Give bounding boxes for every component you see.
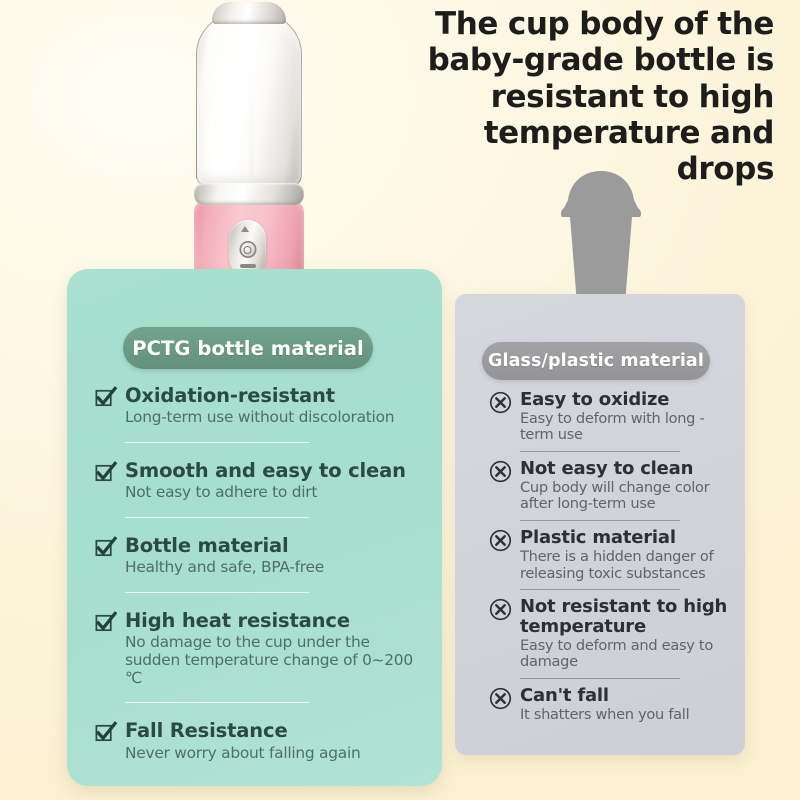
list-item: High heat resistance No damage to the cu… [94, 610, 424, 687]
checkbox-checked-icon [94, 611, 117, 634]
list-item: Easy to oxidize Easy to deform with long… [489, 390, 729, 444]
item-title: Plastic material [520, 528, 729, 548]
item-description: Easy to deform with long -term use [520, 411, 729, 444]
item-title: Bottle material [125, 535, 424, 556]
item-title: Not easy to clean [520, 459, 729, 479]
circle-x-icon [489, 598, 512, 621]
control-panel [229, 220, 266, 276]
circle-x-icon [489, 687, 512, 710]
item-title: Oxidation-resistant [125, 385, 424, 406]
battery-indicator-icon [240, 264, 256, 268]
circle-x-icon [489, 529, 512, 552]
item-description: Not easy to adhere to dirt [125, 484, 424, 502]
checkbox-checked-icon [94, 386, 117, 409]
list-item: Plastic material There is a hidden dange… [489, 528, 729, 582]
divider [125, 702, 309, 703]
cup-gloss-highlight [249, 45, 254, 177]
divider [125, 592, 309, 593]
glass-plastic-material-card: Glass/plastic material Easy to oxidize E… [455, 294, 745, 755]
pctg-material-pill: PCTG bottle material [123, 327, 373, 369]
item-title: Fall Resistance [125, 720, 424, 741]
divider [520, 678, 680, 679]
divider [125, 517, 309, 518]
item-title: High heat resistance [125, 610, 424, 631]
page-title: The cup body of the baby-grade bottle is… [392, 6, 774, 187]
list-item: Not easy to clean Cup body will change c… [489, 459, 729, 513]
metal-ring [194, 183, 304, 205]
divider [520, 520, 680, 521]
item-description: Easy to deform and easy to damage [520, 638, 729, 671]
item-description: There is a hidden danger of releasing to… [520, 549, 729, 582]
divider [520, 451, 680, 452]
list-item: Bottle material Healthy and safe, BPA-fr… [94, 535, 424, 577]
pctg-material-card: PCTG bottle material Oxidation-resistant… [67, 269, 442, 786]
circle-x-icon [489, 391, 512, 414]
triangle-indicator-icon [241, 226, 249, 232]
checkbox-checked-icon [94, 721, 117, 744]
glass-plastic-drawbacks-list: Easy to oxidize Easy to deform with long… [489, 390, 729, 723]
item-title: Easy to oxidize [520, 390, 729, 410]
item-description: Long-term use without discoloration [125, 409, 424, 427]
circle-x-icon [489, 460, 512, 483]
list-item: Oxidation-resistant Long-term use withou… [94, 385, 424, 427]
pctg-benefits-list: Oxidation-resistant Long-term use withou… [94, 385, 424, 762]
item-description: Never worry about falling again [125, 745, 424, 763]
divider [520, 589, 680, 590]
item-description: Healthy and safe, BPA-free [125, 559, 424, 577]
divider [125, 442, 309, 443]
item-description: No damage to the cup under the sudden te… [125, 634, 424, 687]
portable-blender-image [186, 2, 312, 298]
item-title: Smooth and easy to clean [125, 460, 424, 481]
item-description: It shatters when you fall [520, 707, 729, 724]
item-description: Cup body will change color after long-te… [520, 480, 729, 513]
list-item: Not resistant to high temperature Easy t… [489, 597, 729, 671]
glass-plastic-material-pill: Glass/plastic material [482, 342, 710, 380]
item-title: Can't fall [520, 686, 729, 706]
bottle-cup-body [196, 10, 302, 188]
list-item: Smooth and easy to clean Not easy to adh… [94, 460, 424, 502]
list-item: Fall Resistance Never worry about fallin… [94, 720, 424, 762]
power-button-icon [239, 241, 256, 258]
item-title: Not resistant to high temperature [520, 597, 729, 637]
bottle-lid [212, 2, 286, 24]
infographic-canvas: The cup body of the baby-grade bottle is… [0, 0, 800, 800]
list-item: Can't fall It shatters when you fall [489, 686, 729, 723]
checkbox-checked-icon [94, 461, 117, 484]
checkbox-checked-icon [94, 536, 117, 559]
